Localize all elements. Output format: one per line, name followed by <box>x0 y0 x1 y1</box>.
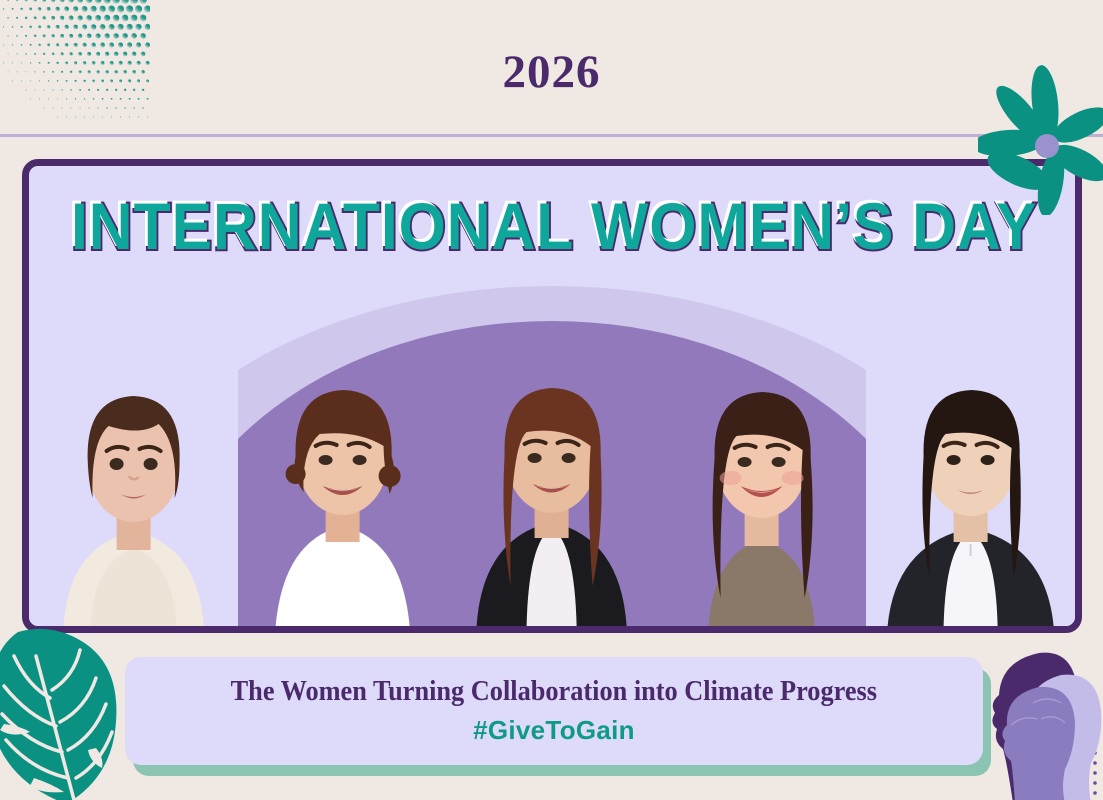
portrait-5-figure <box>866 326 1075 626</box>
caption-title: The Women Turning Collaboration into Cli… <box>231 676 877 708</box>
portrait-3 <box>447 326 656 626</box>
poster-headline: INTERNATIONAL WOMEN’S DAY <box>71 194 1037 259</box>
caption-hashtag: #GiveToGain <box>473 715 635 746</box>
header-divider <box>0 134 1103 137</box>
portrait-2-figure <box>238 326 447 626</box>
portrait-4-figure <box>657 326 866 626</box>
portrait-4 <box>657 326 866 626</box>
poster-canvas: 2026 INTERNATIONAL WOMEN’S DAY <box>0 0 1103 800</box>
poster-year: 2026 <box>0 45 1103 99</box>
portrait-strip <box>29 326 1075 626</box>
caption-bar: The Women Turning Collaboration into Cli… <box>125 657 983 765</box>
women-silhouettes-icon <box>955 645 1103 800</box>
headline-wrap: INTERNATIONAL WOMEN’S DAY <box>29 194 1075 259</box>
portrait-3-figure <box>447 326 656 626</box>
main-panel: INTERNATIONAL WOMEN’S DAY <box>22 159 1082 633</box>
portrait-2 <box>238 326 447 626</box>
daisy-flower-icon <box>978 55 1103 215</box>
portrait-1 <box>29 326 238 626</box>
portrait-1-figure <box>29 326 238 626</box>
monstera-leaf-icon <box>0 628 148 800</box>
portrait-5 <box>866 326 1075 626</box>
